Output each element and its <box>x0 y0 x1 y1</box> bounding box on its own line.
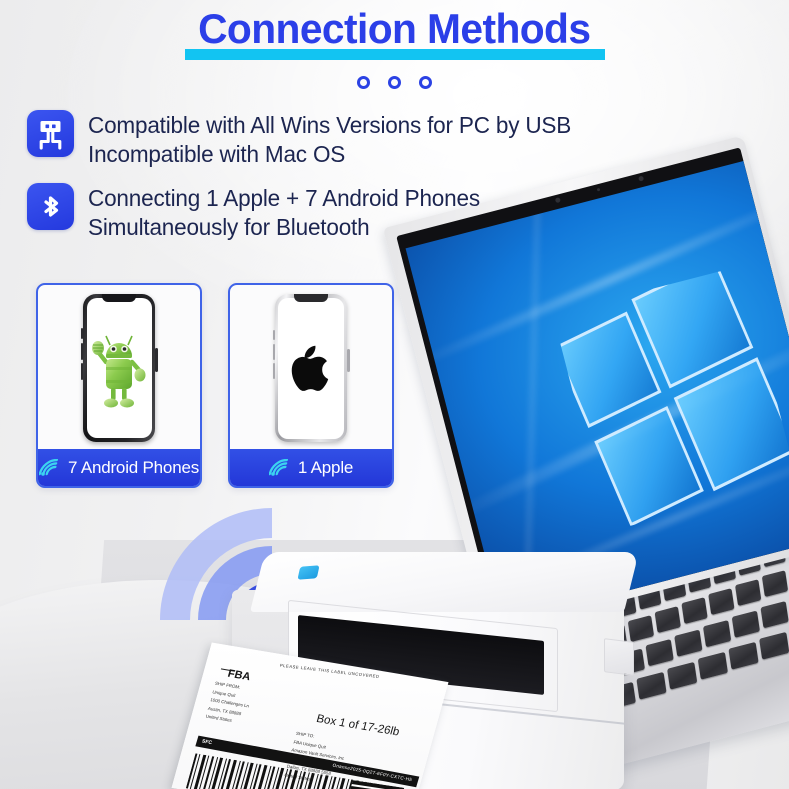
android-card-label: 7 Android Phones <box>68 458 199 478</box>
android-card-footer: 7 Android Phones <box>38 449 200 486</box>
dot-indicator <box>419 76 432 89</box>
bluetooth-icon <box>27 183 74 230</box>
feature-row-usb: Compatible with All Wins Versions for PC… <box>27 110 581 169</box>
apple-card-screen <box>230 285 392 449</box>
apple-logo-icon <box>291 344 331 392</box>
dot-indicators <box>0 74 789 92</box>
usb-icon <box>27 110 74 157</box>
header: Connection Methods <box>0 6 789 51</box>
dot-indicator <box>388 76 401 89</box>
wifi-signal-icon <box>269 459 291 477</box>
label-program: FBA <box>226 668 252 683</box>
apple-card[interactable]: 1 Apple <box>228 283 394 488</box>
webcam-icon <box>555 197 561 203</box>
page-title: Connection Methods <box>198 6 590 51</box>
android-robot-icon <box>90 326 148 410</box>
android-card[interactable]: 7 Android Phones <box>36 283 202 488</box>
windows-logo-icon <box>552 265 789 531</box>
phone-notch <box>294 294 328 302</box>
marketing-banner: PLEASE LEAVE THIS LABEL UNCOVERED FBA SH… <box>0 0 789 789</box>
sensor-icon <box>596 187 600 191</box>
label-strip-code: SFC <box>201 738 213 746</box>
apple-card-label: 1 Apple <box>298 458 353 478</box>
phone-screen <box>278 298 344 439</box>
feature-text: Compatible with All Wins Versions for PC… <box>88 110 571 169</box>
feature-row-bluetooth: Connecting 1 Apple + 7 Android Phones Si… <box>27 183 488 242</box>
wifi-signal-icon <box>39 459 61 477</box>
feature-text: Connecting 1 Apple + 7 Android Phones Si… <box>88 183 480 242</box>
phone-notch <box>102 294 136 302</box>
printer-side-vent <box>604 638 634 676</box>
apple-card-footer: 1 Apple <box>230 449 392 486</box>
android-card-screen <box>38 285 200 449</box>
android-phone-mockup <box>83 294 155 442</box>
dot-indicator <box>357 76 370 89</box>
phone-screen <box>87 298 152 438</box>
label-ship-from: SHIP FROM: Unique Quit 1000 Challenges L… <box>204 680 254 728</box>
apple-phone-mockup <box>275 294 347 442</box>
sensor-icon <box>638 176 644 182</box>
